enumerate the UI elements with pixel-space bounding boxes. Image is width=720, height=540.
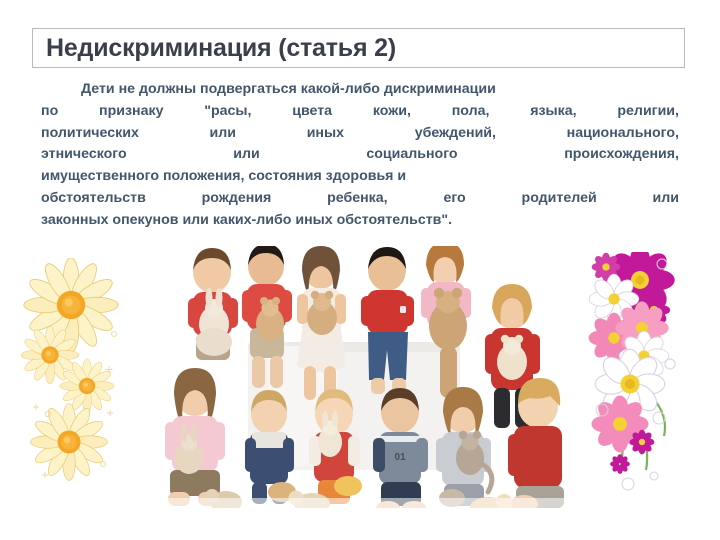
body-word: признаку [99, 101, 163, 123]
cosmos-magenta-bud-bottom [630, 430, 655, 455]
left-flower-decoration [14, 258, 126, 484]
svg-text:01: 01 [394, 452, 406, 463]
body-word: этнического [41, 144, 127, 166]
body-word: социального [366, 144, 457, 166]
right-flower-decoration [586, 252, 708, 496]
body-word: рождения [202, 188, 272, 210]
children-group-photo: 01 [152, 246, 568, 540]
body-word: религии, [617, 101, 679, 123]
body-paragraph: Дети не должны подвергаться какой-либо д… [41, 79, 679, 232]
slide-canvas: Недискриминация (статья 2) Дети не должн… [0, 0, 720, 540]
body-word: или [210, 123, 236, 145]
children-photo-illustration: 01 [152, 246, 568, 540]
body-word: по [41, 101, 58, 123]
body-word: или [233, 144, 259, 166]
body-word: происхождения, [564, 144, 679, 166]
cosmos-magenta-bud-lower [610, 454, 630, 474]
body-word: убеждений, [415, 123, 496, 145]
body-word: "расы, [204, 101, 251, 123]
body-line: этническогоилисоциальногопроисхождения, [41, 144, 679, 166]
body-line: политическихилииныхубеждений,национально… [41, 123, 679, 145]
body-word: пола, [452, 101, 490, 123]
body-line: обстоятельстврожденияребенка,егородителе… [41, 188, 679, 210]
body-word: ребенка, [327, 188, 388, 210]
body-word: его [443, 188, 465, 210]
body-line: Дети не должны подвергаться какой-либо д… [41, 79, 679, 101]
page-title: Недискриминация (статья 2) [46, 31, 676, 65]
body-word: родителей [522, 188, 597, 210]
body-line: законных опекунов или каких-либо иных об… [41, 210, 679, 232]
yellow-daisy-cluster-icon [14, 258, 126, 484]
body-word: или [653, 188, 679, 210]
body-word: иных [307, 123, 344, 145]
body-line: имущественного положения, состояния здор… [41, 166, 679, 188]
body-line: попризнаку"расы,цветакожи,пола,языка,рел… [41, 101, 679, 123]
body-word: политических [41, 123, 139, 145]
body-text-block: Дети не должны подвергаться какой-либо д… [41, 79, 679, 232]
body-word: национального, [567, 123, 679, 145]
body-word: языка, [530, 101, 576, 123]
body-word: цвета [292, 101, 332, 123]
daisy-bottom [31, 404, 108, 481]
body-word: кожи, [373, 101, 411, 123]
pink-cosmos-cluster-icon [586, 252, 708, 496]
body-word: обстоятельств [41, 188, 146, 210]
